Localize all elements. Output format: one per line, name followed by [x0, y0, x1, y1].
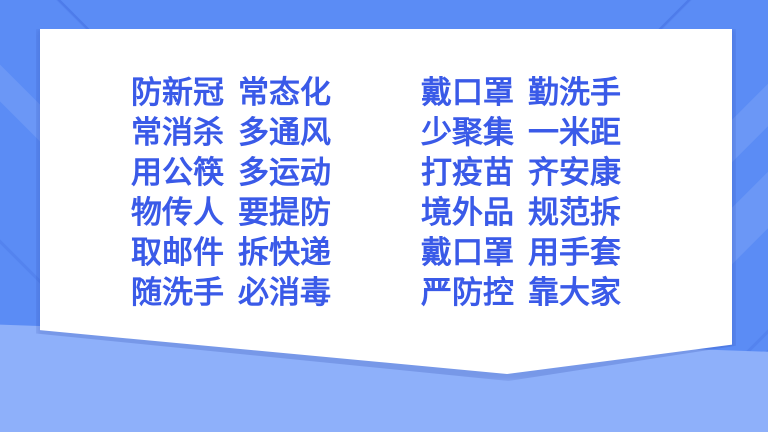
slogan-right-part-a: 戴口罩 [421, 75, 514, 111]
slogan-right: 戴口罩勤洗手 [421, 73, 641, 113]
slogan-left: 物传人要提防 [131, 193, 351, 233]
slogan-right-part-b: 齐安康 [528, 155, 621, 191]
slogan-right-part-b: 规范拆 [528, 195, 621, 231]
slogan-right: 打疫苗齐安康 [421, 153, 641, 193]
slogan-left-part-a: 取邮件 [131, 235, 224, 271]
slogan-right-part-b: 一米距 [528, 115, 621, 151]
slogan-right-part-b: 用手套 [528, 235, 621, 271]
slogan-right: 戴口罩用手套 [421, 233, 641, 273]
poster-canvas: 防新冠常态化 戴口罩勤洗手 常消杀多通风 少聚集一米距 用公筷多运动 打疫苗齐安… [0, 0, 768, 432]
slogan-left-part-a: 物传人 [131, 195, 224, 231]
slogan-left-part-b: 必消毒 [238, 275, 331, 311]
slogan-right-part-b: 靠大家 [528, 275, 621, 311]
slogan-left: 用公筷多运动 [131, 153, 351, 193]
slogan-right: 少聚集一米距 [421, 113, 641, 153]
slogan-row: 取邮件拆快递 戴口罩用手套 [40, 233, 732, 273]
slogan-left-part-a: 用公筷 [131, 155, 224, 191]
slogan-left: 随洗手必消毒 [131, 273, 351, 313]
slogan-row: 物传人要提防 境外品规范拆 [40, 193, 732, 233]
slogan-row: 随洗手必消毒 严防控靠大家 [40, 273, 732, 313]
slogan-right-part-a: 打疫苗 [421, 155, 514, 191]
slogan-right-part-a: 戴口罩 [421, 235, 514, 271]
slogan-row: 用公筷多运动 打疫苗齐安康 [40, 153, 732, 193]
slogan-left-part-b: 多运动 [238, 155, 331, 191]
slogan-left-part-b: 要提防 [238, 195, 331, 231]
slogan-row: 防新冠常态化 戴口罩勤洗手 [40, 73, 732, 113]
slogan-right: 境外品规范拆 [421, 193, 641, 233]
slogan-right-part-b: 勤洗手 [528, 75, 621, 111]
slogan-left-part-b: 多通风 [238, 115, 331, 151]
slogan-right-part-a: 严防控 [421, 275, 514, 311]
slogan-left-part-a: 防新冠 [131, 75, 224, 111]
slogan-left-part-a: 随洗手 [131, 275, 224, 311]
slogan-left: 防新冠常态化 [131, 73, 351, 113]
slogan-right-part-a: 少聚集 [421, 115, 514, 151]
slogan-right-part-a: 境外品 [421, 195, 514, 231]
slogan-right: 严防控靠大家 [421, 273, 641, 313]
slogan-row: 常消杀多通风 少聚集一米距 [40, 113, 732, 153]
slogan-grid: 防新冠常态化 戴口罩勤洗手 常消杀多通风 少聚集一米距 用公筷多运动 打疫苗齐安… [40, 29, 732, 329]
slogan-left-part-b: 常态化 [238, 75, 331, 111]
slogan-left-part-b: 拆快递 [238, 235, 331, 271]
slogan-left: 常消杀多通风 [131, 113, 351, 153]
slogan-left: 取邮件拆快递 [131, 233, 351, 273]
slogan-left-part-a: 常消杀 [131, 115, 224, 151]
